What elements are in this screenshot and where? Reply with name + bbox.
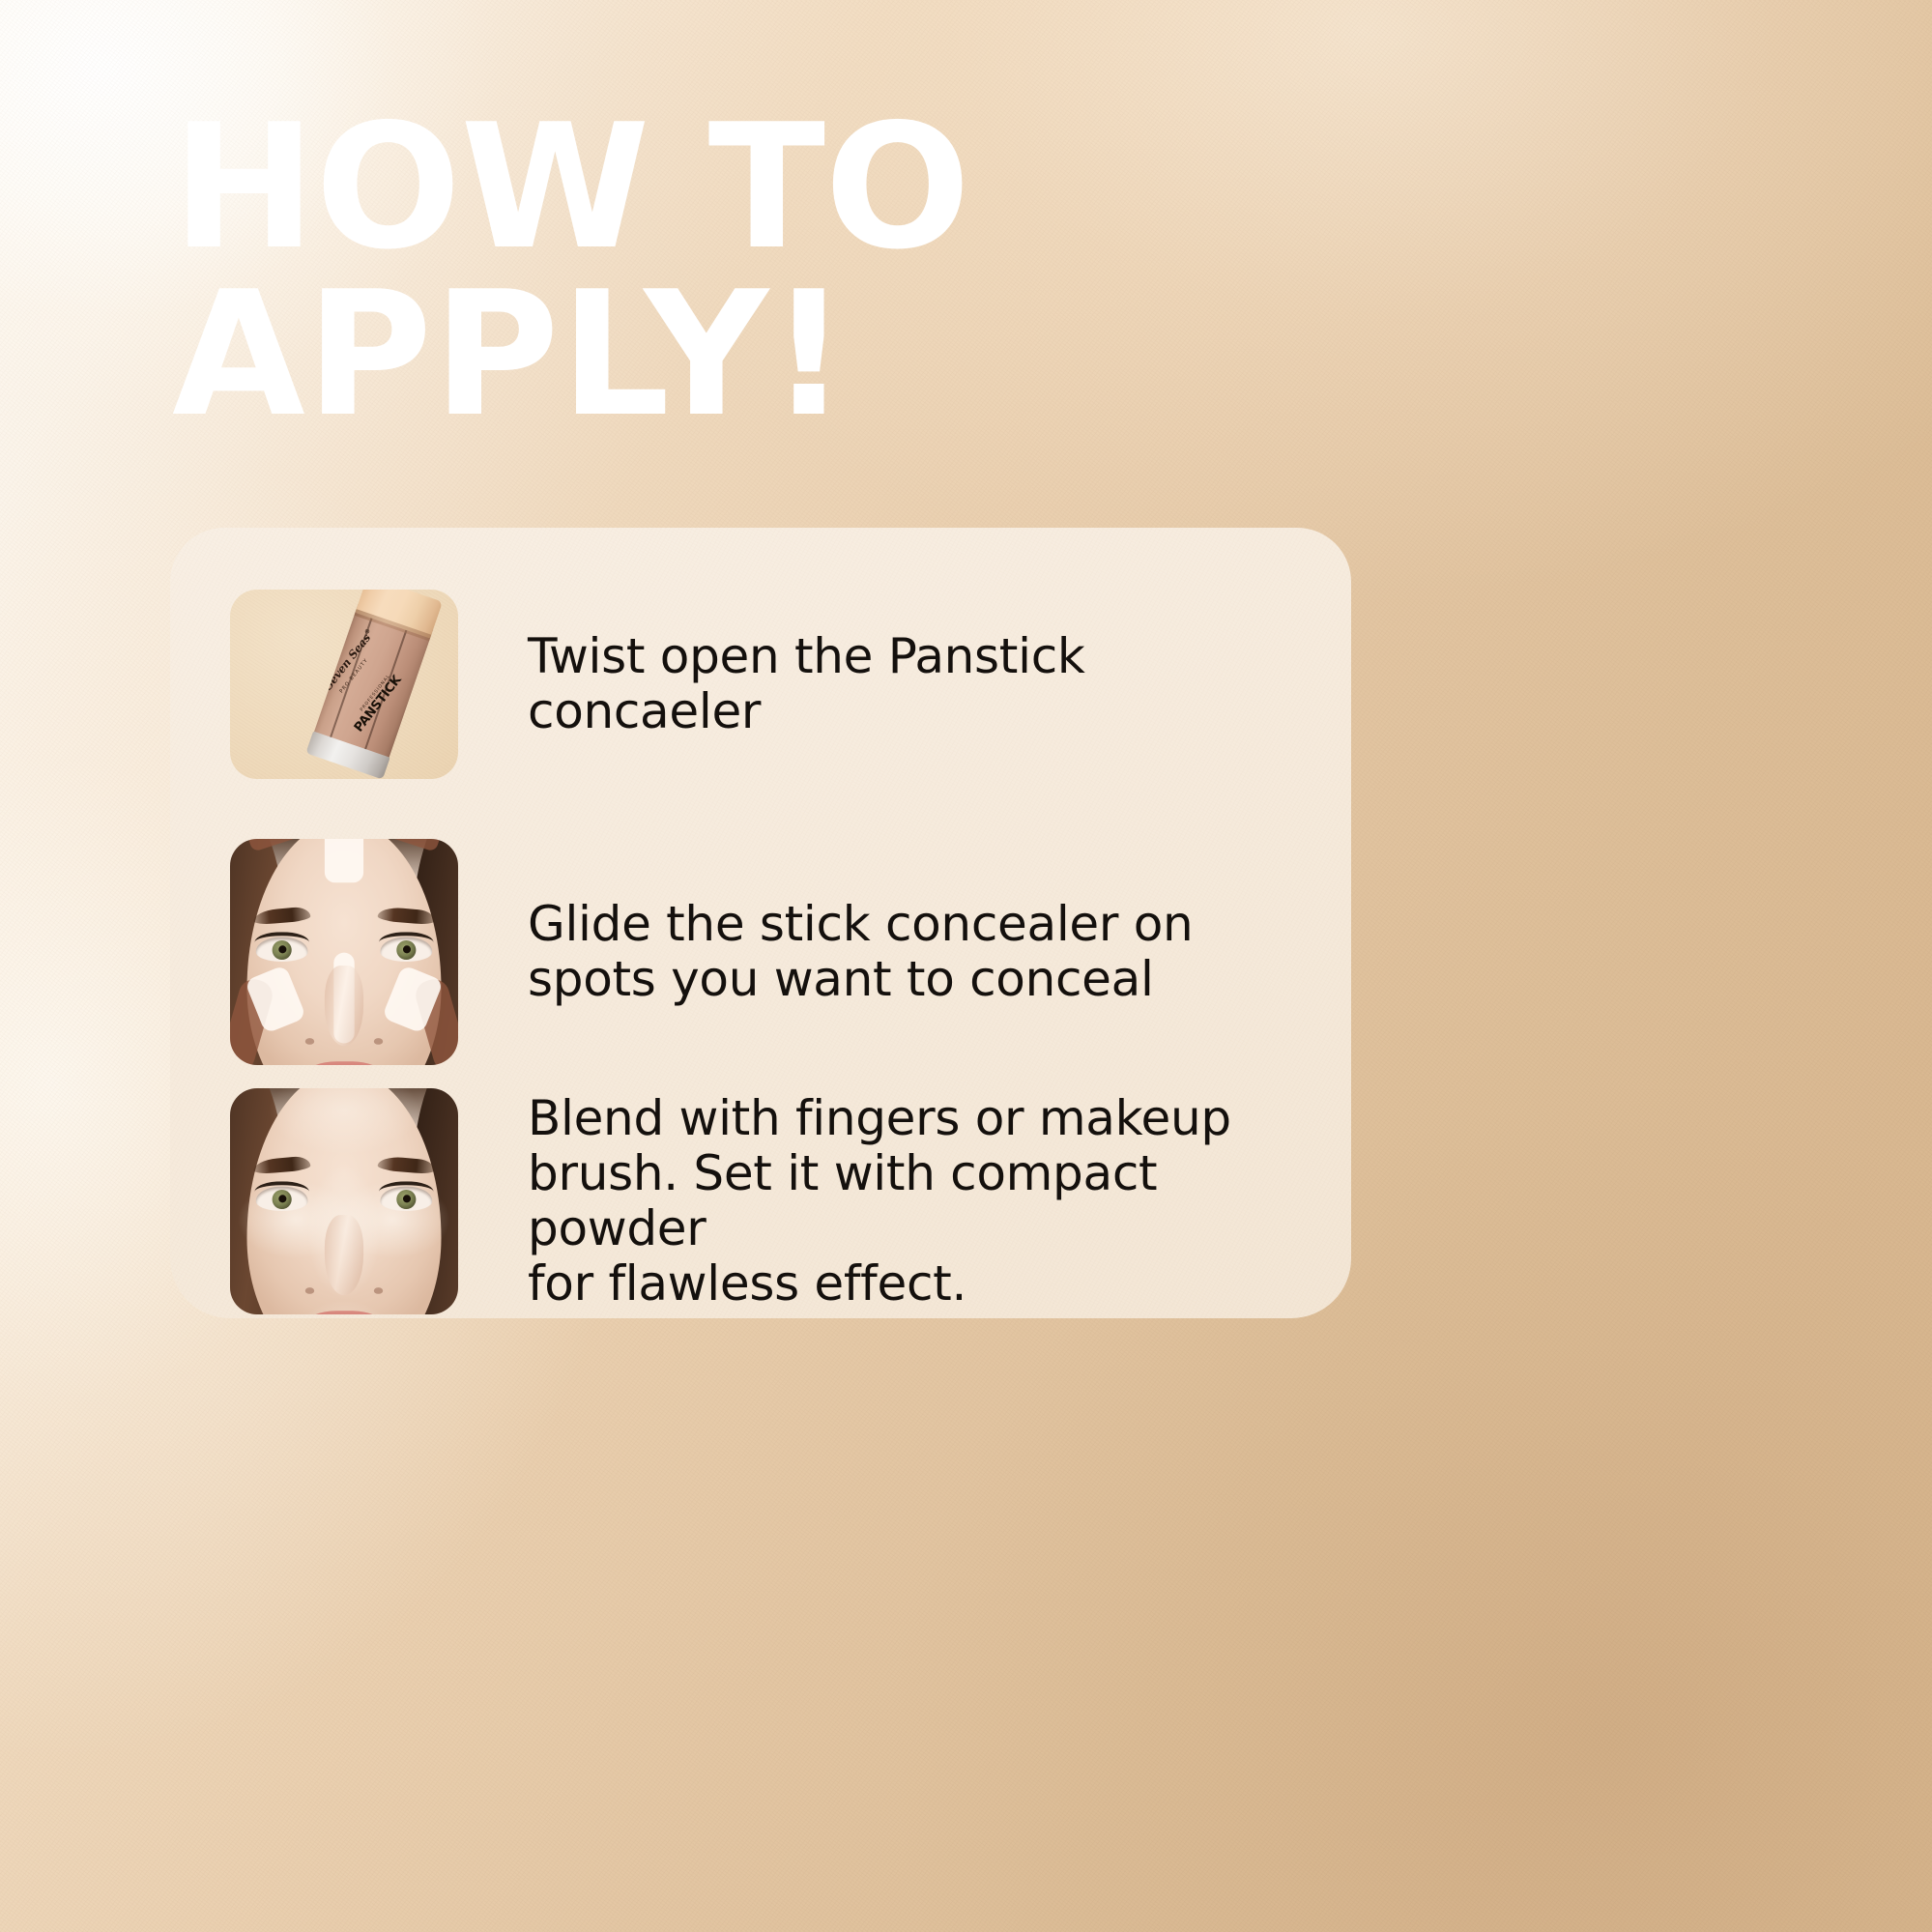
panstick-label-product: PANSTICK bbox=[352, 673, 405, 735]
iris-left bbox=[273, 1189, 292, 1208]
iris-right bbox=[396, 939, 416, 959]
model-face-contoured bbox=[230, 839, 458, 1065]
nostril-left bbox=[305, 1038, 314, 1045]
step-description: Twist open the Panstick concaeler bbox=[528, 629, 1312, 739]
nose bbox=[325, 966, 363, 1046]
list-item: Blend with fingers or makeup brush. Set … bbox=[230, 1088, 1312, 1314]
list-item: Glide the stick concealer on spots you w… bbox=[230, 839, 1312, 1065]
nose bbox=[325, 1215, 363, 1295]
photo-crop bbox=[230, 839, 458, 1065]
steps-card: Seven Seas® PRO BEAUTY PROFESSIONAL PANS… bbox=[170, 528, 1351, 1318]
panstick-product-photo: Seven Seas® PRO BEAUTY PROFESSIONAL PANS… bbox=[230, 590, 458, 779]
upper-lip bbox=[303, 1311, 384, 1314]
contour-mapping-photo bbox=[230, 839, 458, 1065]
lips bbox=[303, 1061, 384, 1065]
step-description: Blend with fingers or makeup brush. Set … bbox=[528, 1091, 1312, 1312]
nostril-right bbox=[374, 1287, 383, 1294]
page-title: HOW TO APPLY! bbox=[172, 104, 1428, 438]
page-title-line-1: HOW TO bbox=[172, 104, 1428, 272]
contour-forehead-left bbox=[246, 839, 307, 852]
contour-forehead-right bbox=[381, 839, 442, 852]
iris-right bbox=[396, 1189, 416, 1208]
iris-left bbox=[273, 939, 292, 959]
lips bbox=[303, 1311, 384, 1314]
highlight-forehead bbox=[325, 839, 363, 882]
page-title-line-2: APPLY! bbox=[172, 272, 1428, 439]
nostril-left bbox=[305, 1287, 314, 1294]
upper-lip bbox=[303, 1061, 384, 1065]
list-item: Seven Seas® PRO BEAUTY PROFESSIONAL PANS… bbox=[230, 590, 1312, 779]
photo-crop bbox=[230, 1088, 458, 1314]
step-description: Glide the stick concealer on spots you w… bbox=[528, 897, 1312, 1007]
blended-finish-photo bbox=[230, 1088, 458, 1314]
nostril-right bbox=[374, 1038, 383, 1045]
poster-canvas: HOW TO APPLY! Seven Seas® bbox=[0, 0, 1932, 1932]
model-face-blended bbox=[230, 1088, 458, 1314]
